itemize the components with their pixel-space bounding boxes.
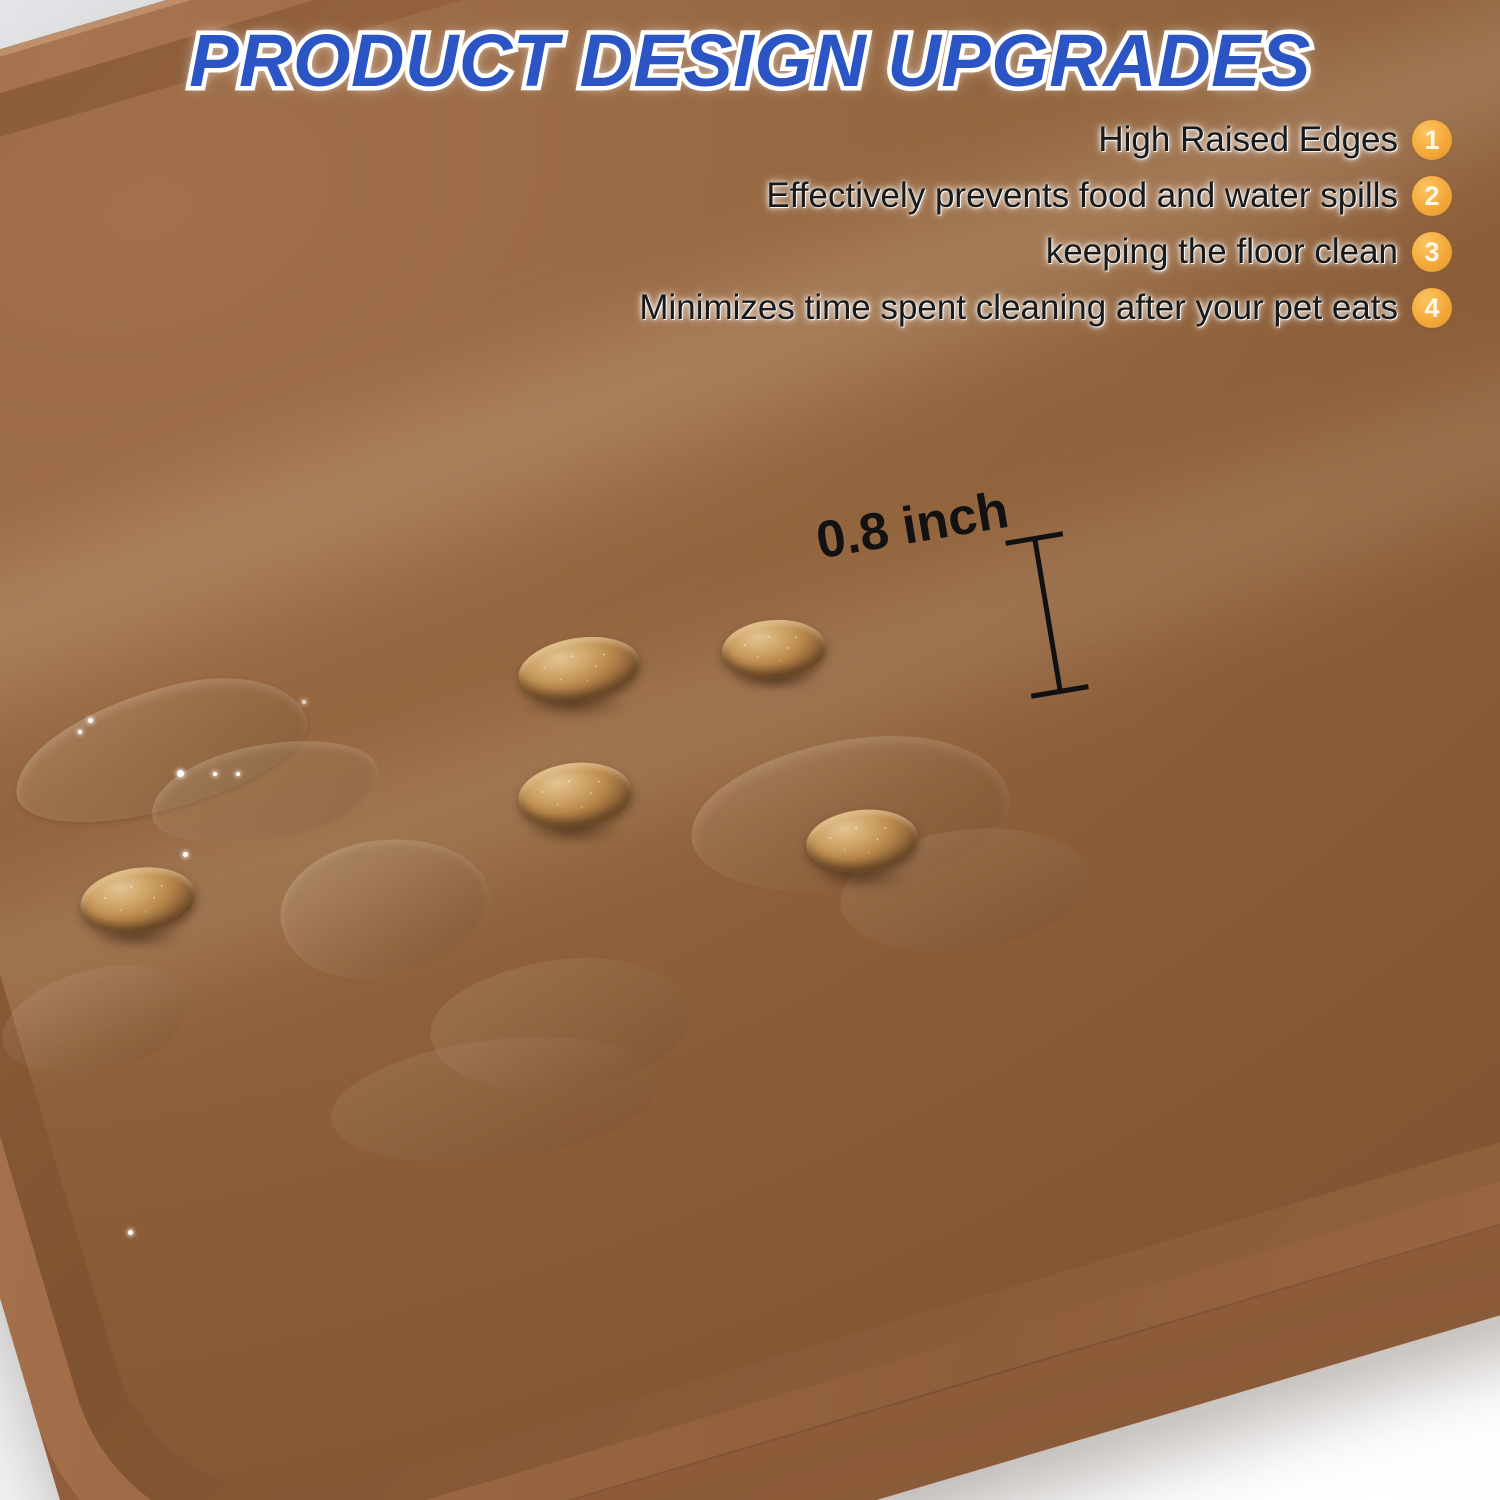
ibeam-vertical-line	[1032, 538, 1063, 693]
benefit-text: Effectively prevents food and water spil…	[766, 176, 1398, 216]
water-sparkle	[183, 852, 188, 857]
water-sparkle	[302, 700, 306, 704]
water-sparkle	[213, 772, 217, 776]
benefit-badge-4: 4	[1412, 288, 1452, 328]
benefit-text: High Raised Edges	[1098, 120, 1398, 160]
benefit-item-4: Minimizes time spent cleaning after your…	[639, 288, 1452, 328]
water-sparkle	[236, 772, 240, 776]
water-sparkle	[88, 718, 93, 723]
water-sparkle	[177, 770, 184, 777]
benefit-item-1: High Raised Edges 1	[1098, 120, 1452, 160]
benefit-item-2: Effectively prevents food and water spil…	[766, 176, 1452, 216]
benefit-badge-1: 1	[1412, 120, 1452, 160]
benefit-item-3: keeping the floor clean 3	[1046, 232, 1452, 272]
benefit-list: High Raised Edges 1 Effectively prevents…	[452, 120, 1452, 328]
benefit-badge-3: 3	[1412, 232, 1452, 272]
benefit-text: keeping the floor clean	[1046, 232, 1398, 272]
water-sparkle	[78, 730, 82, 734]
benefit-text: Minimizes time spent cleaning after your…	[639, 288, 1398, 328]
product-marketing-image: PRODUCT DESIGN UPGRADES High Raised Edge…	[0, 0, 1500, 1500]
page-title: PRODUCT DESIGN UPGRADES	[0, 18, 1500, 103]
benefit-badge-2: 2	[1412, 176, 1452, 216]
water-sparkle	[128, 1230, 133, 1235]
